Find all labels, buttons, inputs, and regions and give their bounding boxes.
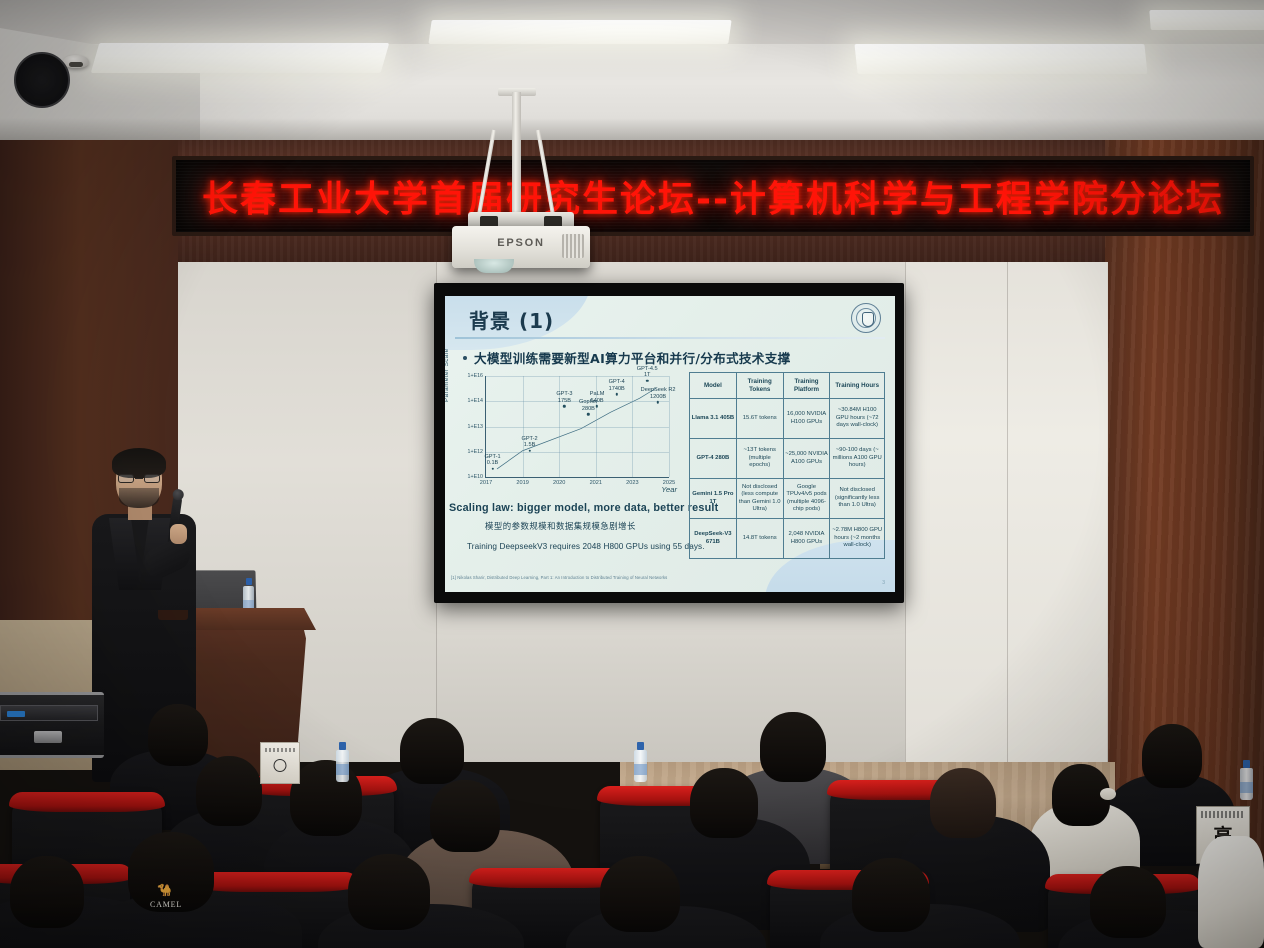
audience-head xyxy=(400,718,464,784)
table-cell-platform: Google TPUv4/v5 pods (multiple 4096-chip… xyxy=(783,479,830,519)
chart-point-label: DeepSeek R21200B xyxy=(641,387,676,400)
parameter-scale-chart: Parameter Scale 201720192020202120232025… xyxy=(457,372,675,500)
camel-logo-icon: 🐪 xyxy=(157,884,172,896)
bullet-dot-icon xyxy=(463,356,467,360)
slide-page-number: 3 xyxy=(882,580,885,586)
audience-head xyxy=(148,704,208,766)
presentation-slide: 背景 (1) 大模型训练需要新型AI算力平台和并行/分布式技术支撑 Parame… xyxy=(445,296,895,592)
conference-hall-photo: 长春工业大学首届研究生论坛--计算机科学与工程学院分论坛 EPSON 背景 (1… xyxy=(0,0,1264,948)
table-cell-platform: 2,048 NVIDIA H800 GPUs xyxy=(783,519,830,559)
table-row: Gemini 1.5 Pro 1TNot disclosed (less com… xyxy=(690,479,885,519)
table-row: GPT-4 280B~13T tokens (multiple epochs)~… xyxy=(690,439,885,479)
chart-y-axis-label: Parameter Scale xyxy=(445,348,450,402)
slide-bullet-line: 大模型训练需要新型AI算力平台和并行/分布式技术支撑 xyxy=(463,348,883,367)
scaling-law-text: Scaling law: bigger model, more data, be… xyxy=(449,502,718,514)
back-wall-right-panel xyxy=(905,262,1107,762)
name-placard-left xyxy=(260,742,300,784)
ceiling-light-panel xyxy=(428,20,731,44)
chart-point-label: GPT-4.51T xyxy=(637,366,658,379)
table-cell-model: Llama 3.1 405B xyxy=(690,399,737,439)
table-header-cell: Model xyxy=(690,373,737,399)
slide-title-rule xyxy=(455,337,885,339)
table-cell-hours: ~2.78M H800 GPU hours (~2 months wall-cl… xyxy=(830,519,885,559)
audience-head xyxy=(290,760,362,836)
slide-footer-citation: [1] Nikolas Sharir, Distributed Deep Lea… xyxy=(451,575,667,580)
scaling-law-chinese-text: 模型的参数规模和数据集规模急剧增长 xyxy=(485,520,636,532)
chart-point-label: GPT-41740B xyxy=(609,379,625,392)
chart-y-tick: 1+E10 xyxy=(468,474,483,480)
audience-head xyxy=(348,854,430,930)
table-row: DeepSeek-V3 671B14.8T tokens2,048 NVIDIA… xyxy=(690,519,885,559)
wall-seam xyxy=(905,262,906,762)
wall-seam xyxy=(1007,262,1008,762)
ceiling-light-panel xyxy=(91,43,390,73)
chart-point-label: GPT-21.5B xyxy=(521,436,537,449)
audience-head xyxy=(600,856,680,932)
water-bottle xyxy=(634,742,647,782)
audience-head xyxy=(1142,724,1202,788)
led-banner: 长春工业大学首届研究生论坛--计算机科学与工程学院分论坛 xyxy=(172,156,1254,236)
table-cell-tokens: 15.6T tokens xyxy=(736,399,783,439)
chart-point-label: PaLM540B xyxy=(590,391,605,404)
projector-vent xyxy=(562,234,584,258)
audience-head xyxy=(430,780,500,852)
led-banner-text: 长春工业大学首届研究生论坛--计算机科学与工程学院分论坛 xyxy=(176,170,1250,222)
training-note-text: Training DeepseekV3 requires 2048 H800 G… xyxy=(467,542,705,551)
table-cell-tokens: ~13T tokens (multiple epochs) xyxy=(736,439,783,479)
table-cell-platform: 16,000 NVIDIA H100 GPUs xyxy=(783,399,830,439)
ceiling-light-panel xyxy=(854,44,1147,74)
audience-head xyxy=(196,756,262,826)
table-cell-model: GPT-4 280B xyxy=(690,439,737,479)
audience-head xyxy=(10,856,84,928)
table-cell-hours: Not disclosed (significantly less than 1… xyxy=(830,479,885,519)
projection-screen: 背景 (1) 大模型训练需要新型AI算力平台和并行/分布式技术支撑 Parame… xyxy=(434,283,904,603)
table-cell-model: Gemini 1.5 Pro 1T xyxy=(690,479,737,519)
water-bottle xyxy=(336,742,349,782)
table-cell-tokens: 14.8T tokens xyxy=(736,519,783,559)
glasses-icon xyxy=(118,474,160,483)
audience-area xyxy=(0,690,1264,948)
chart-point-label: GPT-10.1B xyxy=(484,454,500,467)
speaker-beard xyxy=(119,488,159,508)
case-logo-icon xyxy=(14,52,70,108)
training-cost-table: ModelTraining TokensTraining PlatformTra… xyxy=(689,372,885,559)
water-bottle xyxy=(1240,760,1253,800)
projector: EPSON xyxy=(452,226,590,268)
table-cell-tokens: Not disclosed (less compute than Gemini … xyxy=(736,479,783,519)
chart-gridline xyxy=(486,452,669,453)
chart-x-tick: 2017 xyxy=(480,480,492,486)
hair-clip xyxy=(1100,788,1116,800)
slide-title: 背景 (1) xyxy=(469,305,554,334)
audience-head xyxy=(690,768,758,838)
audience-head xyxy=(930,768,996,838)
table-cell-model: DeepSeek-V3 671B xyxy=(690,519,737,559)
chart-x-tick: 2020 xyxy=(553,480,565,486)
audience-head xyxy=(852,858,930,932)
chart-plot-area: 2017201920202021202320251+E101+E121+E131… xyxy=(485,376,669,478)
chart-y-tick: 1+E12 xyxy=(468,449,483,455)
chart-y-tick: 1+E16 xyxy=(468,373,483,379)
chart-gridline xyxy=(486,427,669,428)
slide-bullet-text: 大模型训练需要新型AI算力平台和并行/分布式技术支撑 xyxy=(474,351,791,366)
chart-x-tick: 2019 xyxy=(516,480,528,486)
ceiling-light-panel xyxy=(1149,10,1264,30)
table-cell-platform: ~25,000 NVIDIA A100 GPUs xyxy=(783,439,830,479)
projector-support-arms xyxy=(486,130,546,220)
chart-x-tick: 2023 xyxy=(626,480,638,486)
speaker-hand xyxy=(170,524,187,544)
audience-head xyxy=(760,712,826,782)
jacket-brand-label: CAMEL xyxy=(150,900,182,909)
podium-notch xyxy=(158,610,188,620)
chart-x-axis-label: Year xyxy=(661,485,677,494)
chart-y-tick: 1+E14 xyxy=(468,398,483,404)
projector-lens xyxy=(474,259,514,273)
table-header-cell: Training Tokens xyxy=(736,373,783,399)
placard-seal-icon xyxy=(274,759,287,772)
university-seal-icon xyxy=(851,303,881,333)
audience-member-white-coat xyxy=(1198,836,1264,948)
table-header-row: ModelTraining TokensTraining PlatformTra… xyxy=(690,373,885,399)
chart-x-tick: 2021 xyxy=(590,480,602,486)
table-cell-hours: ~90-100 days (~ millions A100 GPU hours) xyxy=(830,439,885,479)
table-header-cell: Training Platform xyxy=(783,373,830,399)
table-header-cell: Training Hours xyxy=(830,373,885,399)
table-row: Llama 3.1 405B15.6T tokens16,000 NVIDIA … xyxy=(690,399,885,439)
chart-point-label: GPT-3175B xyxy=(556,391,572,404)
table-cell-hours: ~30.84M H100 GPU hours (~72 days wall-cl… xyxy=(830,399,885,439)
audience-head xyxy=(1090,866,1166,938)
chart-gridline xyxy=(486,401,669,402)
smoke-detector-icon xyxy=(63,55,89,68)
chart-y-tick: 1+E13 xyxy=(468,424,483,430)
